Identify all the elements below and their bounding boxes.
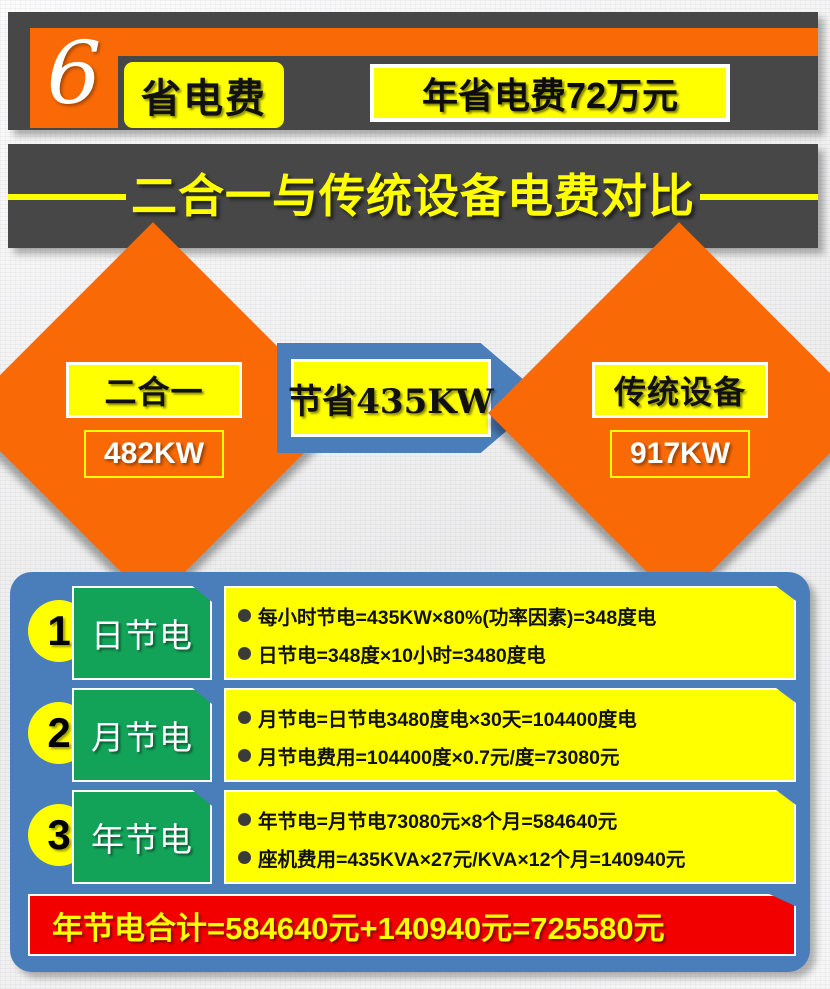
diamond-right-label: 传统设备 (614, 367, 746, 413)
savings-row: 3 年节电 年节电=月节电73080元×8个月=584640元 座机费用=435… (28, 790, 796, 884)
savings-row: 1 日节电 每小时节电=435KW×80%(功率因素)=348度电 日节电=34… (28, 586, 796, 680)
diamond-left: 二合一 482KW (18, 278, 288, 548)
bullet-line: 年节电=月节电73080元×8个月=584640元 (238, 800, 784, 838)
row-category-box: 日节电 (72, 586, 212, 680)
step-tag-label: 省电费 (141, 66, 267, 124)
savings-breakdown-panel: 1 日节电 每小时节电=435KW×80%(功率因素)=348度电 日节电=34… (10, 572, 810, 972)
row-bullets-box: 每小时节电=435KW×80%(功率因素)=348度电 日节电=348度×10小… (224, 586, 796, 680)
diamond-left-label-box: 二合一 (66, 362, 242, 418)
total-savings-text: 年节电合计=584640元+140940元=725580元 (30, 903, 665, 948)
section-title-band: 二合一与传统设备电费对比 (8, 144, 818, 248)
row-category-label: 日节电 (91, 609, 193, 657)
bullet-text: 座机费用=435KVA×27元/KVA×12个月=140940元 (258, 843, 685, 872)
diamond-left-value-box: 482KW (84, 430, 224, 478)
bullet-dot-icon (238, 749, 251, 762)
bullet-text: 年节电=月节电73080元×8个月=584640元 (258, 805, 617, 834)
row-category-box: 月节电 (72, 688, 212, 782)
header-banner-label: 年省电费72万元 (422, 67, 678, 119)
bullet-line: 月节电费用=104400度×0.7元/度=73080元 (238, 736, 784, 774)
row-category-label: 年节电 (91, 813, 193, 861)
step-tag: 省电费 (124, 62, 284, 128)
bullet-line: 月节电=日节电3480度电×30天=104400度电 (238, 698, 784, 736)
bullet-dot-icon (238, 711, 251, 724)
bullet-text: 日节电=348度×10小时=3480度电 (258, 639, 546, 668)
savings-arrow-label: 节省435KW (288, 374, 494, 423)
bullet-line: 座机费用=435KVA×27元/KVA×12个月=140940元 (238, 838, 784, 876)
savings-row: 2 月节电 月节电=日节电3480度电×30天=104400度电 月节电费用=1… (28, 688, 796, 782)
comparison-diagram: 二合一 482KW 节省435KW 传统设备 917KW (0, 258, 830, 568)
bullet-text: 月节电费用=104400度×0.7元/度=73080元 (258, 741, 619, 770)
diamond-right-value: 917KW (630, 437, 730, 471)
diamond-left-label: 二合一 (104, 367, 203, 413)
row-bullets-box: 年节电=月节电73080元×8个月=584640元 座机费用=435KVA×27… (224, 790, 796, 884)
row-bullets-box: 月节电=日节电3480度电×30天=104400度电 月节电费用=104400度… (224, 688, 796, 782)
section-title: 二合一与传统设备电费对比 (8, 166, 818, 226)
step-number-badge: 6 (30, 20, 118, 128)
bullet-dot-icon (238, 609, 251, 622)
bullet-dot-icon (238, 813, 251, 826)
diamond-right-label-box: 传统设备 (592, 362, 768, 418)
bullet-text: 每小时节电=435KW×80%(功率因素)=348度电 (258, 601, 656, 630)
bullet-text: 月节电=日节电3480度电×30天=104400度电 (258, 703, 637, 732)
bullet-line: 每小时节电=435KW×80%(功率因素)=348度电 (238, 596, 784, 634)
header-band: 6 省电费 年省电费72万元 (8, 12, 818, 130)
diamond-right-value-box: 917KW (610, 430, 750, 478)
bullet-line: 日节电=348度×10小时=3480度电 (238, 634, 784, 672)
diamond-left-content: 二合一 482KW (18, 278, 288, 548)
row-category-box: 年节电 (72, 790, 212, 884)
total-savings-bar: 年节电合计=584640元+140940元=725580元 (28, 894, 796, 956)
row-category-label: 月节电 (91, 711, 193, 759)
diamond-left-value: 482KW (104, 437, 204, 471)
bullet-dot-icon (238, 647, 251, 660)
savings-arrow-label-box: 节省435KW (291, 359, 491, 437)
diamond-right-content: 传统设备 917KW (544, 278, 814, 548)
header-orange-stripe (30, 28, 818, 56)
header-banner: 年省电费72万元 (370, 64, 730, 122)
bullet-dot-icon (238, 851, 251, 864)
diamond-right: 传统设备 917KW (544, 278, 814, 548)
